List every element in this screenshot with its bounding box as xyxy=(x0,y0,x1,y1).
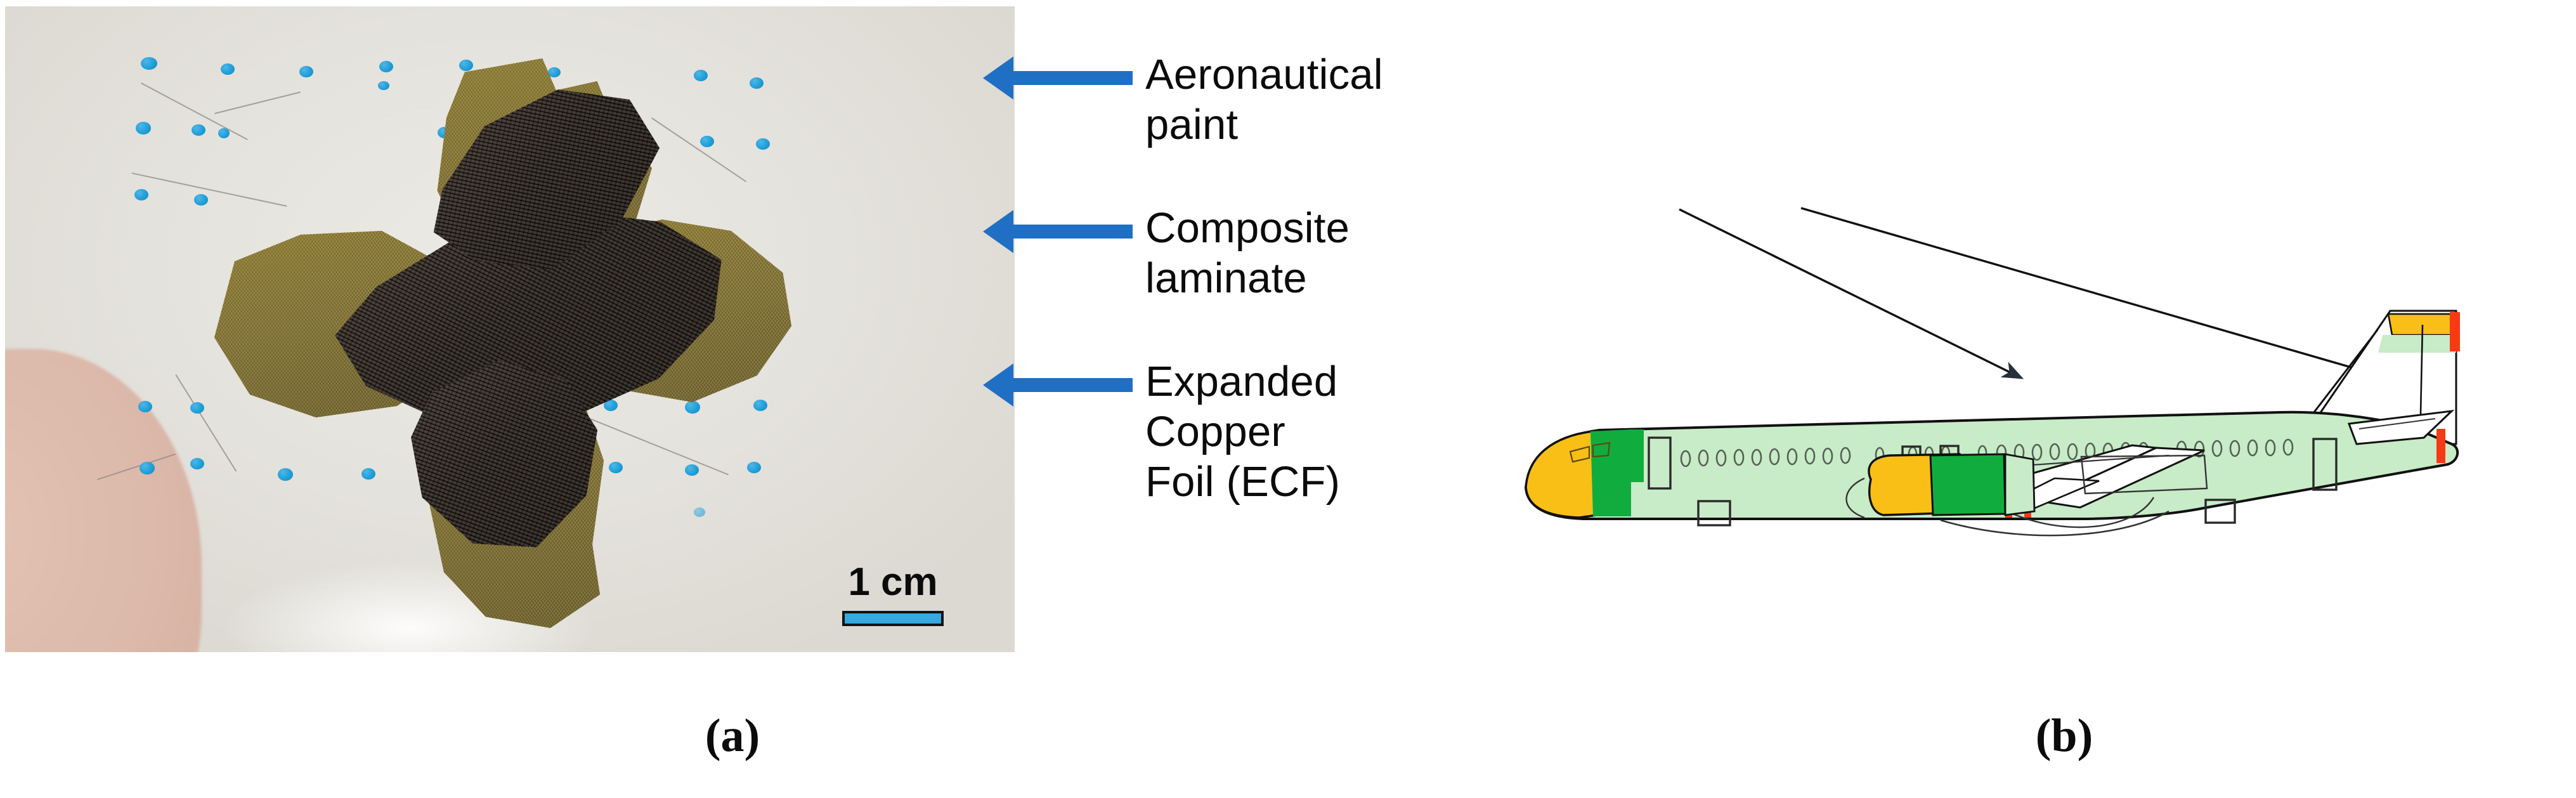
forward-accent-band xyxy=(1590,429,1631,516)
paint-dot xyxy=(378,81,389,90)
paint-dot xyxy=(141,57,157,70)
callout-label-ecf: Expanded Copper Foil (ECF) xyxy=(1145,356,1340,507)
nose-radome xyxy=(1526,431,1597,518)
paint-dot xyxy=(694,507,705,517)
aft-trim xyxy=(2436,429,2445,463)
paint-dot xyxy=(379,61,393,72)
aircraft-diagram xyxy=(1459,0,2576,679)
leader-line-tail xyxy=(1801,208,2379,376)
paint-dot xyxy=(299,66,313,77)
scale-bar-label: 1 cm xyxy=(820,559,966,605)
specimen-photograph: 1 cm xyxy=(5,6,1015,652)
paint-dot xyxy=(134,189,148,200)
paint-dot xyxy=(218,128,230,138)
callout-arrow-ecf xyxy=(1012,378,1133,392)
callout-arrow-paint xyxy=(1012,71,1133,85)
paint-dot xyxy=(750,77,764,89)
paint-dot xyxy=(685,464,699,476)
panel-a: 1 cm Aeronautical paint Composite lamina… xyxy=(0,0,1459,798)
paint-dot xyxy=(700,136,714,147)
callout-label-laminate: Composite laminate xyxy=(1145,203,1350,303)
scale-bar: 1 cm xyxy=(820,559,966,626)
paint-dot xyxy=(278,468,293,481)
paint-dot xyxy=(459,60,473,71)
callout-arrow-laminate xyxy=(1012,225,1133,239)
paint-dot xyxy=(694,70,708,81)
paint-dot xyxy=(609,462,623,473)
paint-dot xyxy=(361,468,375,480)
scale-bar-rule xyxy=(842,611,944,626)
paint-dot xyxy=(194,194,208,206)
figure-root: 1 cm Aeronautical paint Composite lamina… xyxy=(0,0,2576,798)
paint-dot xyxy=(192,124,205,136)
paint-dot xyxy=(190,458,204,469)
paint-dot xyxy=(136,122,151,134)
panel-a-caption: (a) xyxy=(641,709,824,763)
paint-dot xyxy=(747,462,761,473)
leader-line-fuselage xyxy=(1679,209,2022,378)
paint-dot xyxy=(138,401,152,412)
paint-dot xyxy=(753,400,767,411)
paint-dot xyxy=(685,401,700,414)
callout-label-paint: Aeronautical paint xyxy=(1145,49,1383,150)
paint-dot xyxy=(190,402,204,414)
panel-b-caption: (b) xyxy=(1972,709,2156,763)
paint-dot xyxy=(140,462,155,474)
panel-b: (b) xyxy=(1459,0,2576,798)
tail-trim xyxy=(2450,312,2460,351)
paint-dot xyxy=(756,138,770,150)
leader-lines xyxy=(1679,208,2379,378)
paint-dot xyxy=(221,63,235,75)
